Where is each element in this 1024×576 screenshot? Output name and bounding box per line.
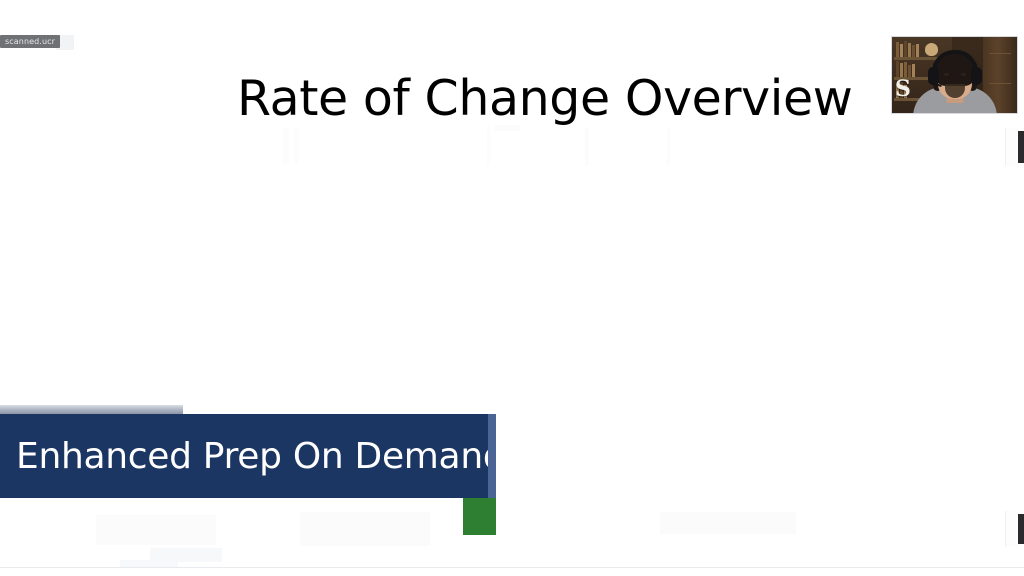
ghost-artifact [150, 548, 222, 562]
recording-status-pill[interactable]: scanned.ucr [0, 35, 60, 48]
ghost-artifact [585, 128, 589, 166]
silver-rule-divider [0, 405, 183, 414]
slide-canvas: Rate of Change Overview Enhanced Prep On… [0, 0, 1024, 568]
presentation-recording-stage: Rate of Change Overview Enhanced Prep On… [0, 0, 1024, 576]
scroll-track-bottom [1005, 511, 1018, 547]
scroll-handle-top[interactable] [1018, 131, 1024, 163]
ghost-artifact [667, 127, 670, 165]
webcam-pip[interactable]: S [891, 36, 1018, 114]
ghost-artifact [294, 128, 298, 164]
presenter-figure [892, 37, 1017, 113]
ghost-artifact [487, 126, 490, 166]
course-banner-label: Enhanced Prep On Demand Course [0, 436, 640, 477]
green-accent-block [463, 498, 496, 535]
slide-title: Rate of Change Overview [237, 68, 797, 130]
ghost-artifact [96, 515, 216, 545]
presenter-eye [944, 73, 949, 76]
webcam-scene: S [892, 37, 1017, 113]
scroll-track-top [1005, 128, 1018, 166]
headphone-earcup-icon [971, 67, 982, 85]
bottom-strip [0, 568, 1024, 576]
ghost-artifact [283, 128, 289, 164]
course-banner-edge [488, 414, 496, 498]
ghost-artifact [660, 512, 796, 534]
scroll-handle-bottom[interactable] [1018, 514, 1024, 544]
ghost-artifact [300, 512, 430, 546]
course-banner: Enhanced Prep On Demand Course [0, 414, 496, 498]
presenter-eye [961, 73, 966, 76]
